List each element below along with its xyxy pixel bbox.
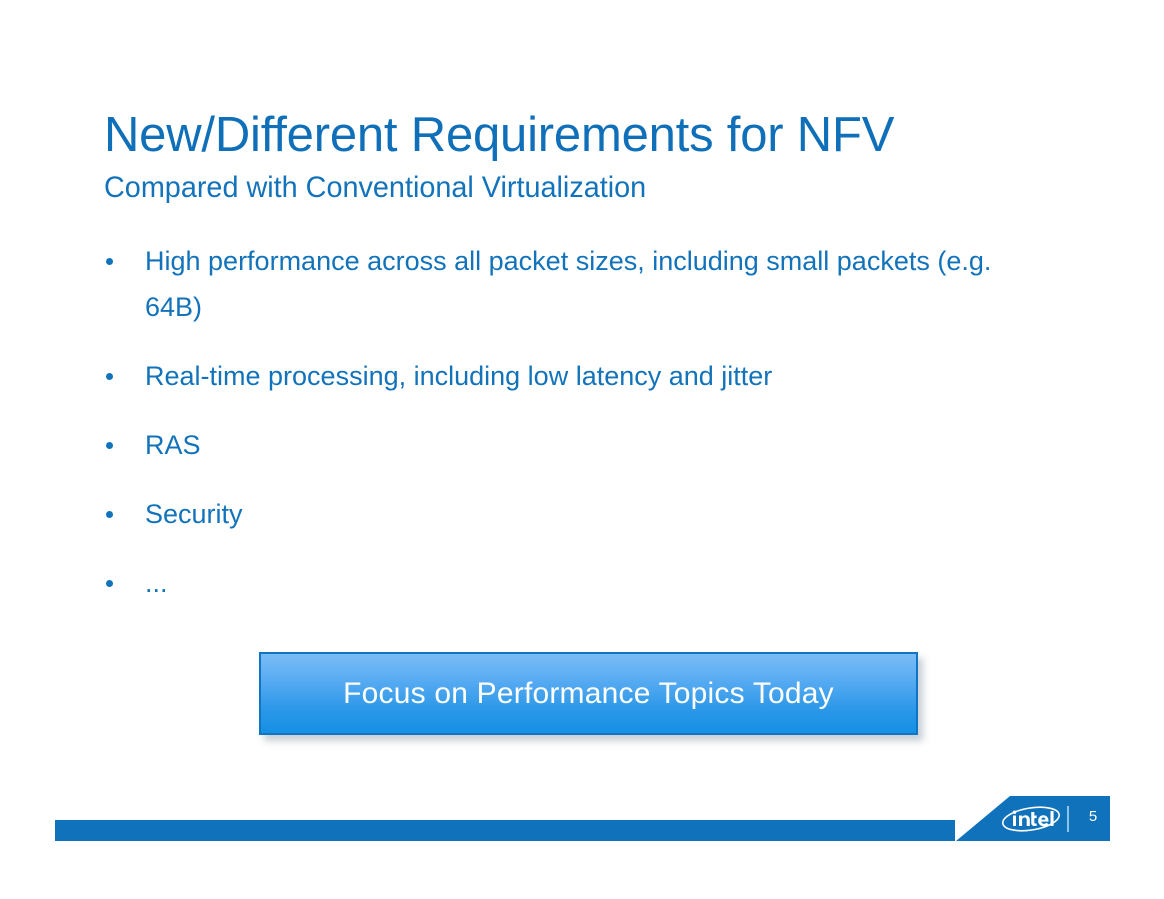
bullet-dot-icon xyxy=(106,258,113,265)
page-number: 5 xyxy=(1080,808,1106,825)
list-item-label: Real-time processing, including low late… xyxy=(145,353,1030,399)
callout-box: Focus on Performance Topics Today xyxy=(259,652,918,735)
list-item: High performance across all packet sizes… xyxy=(100,238,1030,330)
list-item: Real-time processing, including low late… xyxy=(100,353,1030,399)
bullet-dot-icon xyxy=(106,580,113,587)
list-item-label: RAS xyxy=(145,422,1030,468)
list-item: ... xyxy=(100,560,1030,606)
list-item: Security xyxy=(100,491,1030,537)
list-item-label: ... xyxy=(145,560,1030,606)
requirements-list: High performance across all packet sizes… xyxy=(100,238,1030,606)
footer-divider xyxy=(1067,806,1069,832)
intel-logo-icon xyxy=(1000,805,1062,833)
callout-label: Focus on Performance Topics Today xyxy=(343,677,834,711)
title-block: New/Different Requirements for NFV Compa… xyxy=(104,106,1064,206)
list-item: RAS xyxy=(100,422,1030,468)
page-subtitle: Compared with Conventional Virtualizatio… xyxy=(104,170,1026,206)
list-item-label: High performance across all packet sizes… xyxy=(145,238,1030,330)
list-item-label: Security xyxy=(145,491,1030,537)
bullet-dot-icon xyxy=(106,373,113,380)
slide-canvas: New/Different Requirements for NFV Compa… xyxy=(0,0,1164,899)
bullet-dot-icon xyxy=(106,442,113,449)
footer-bar xyxy=(55,820,955,841)
page-title: New/Different Requirements for NFV xyxy=(104,106,1064,164)
bullet-dot-icon xyxy=(106,511,113,518)
